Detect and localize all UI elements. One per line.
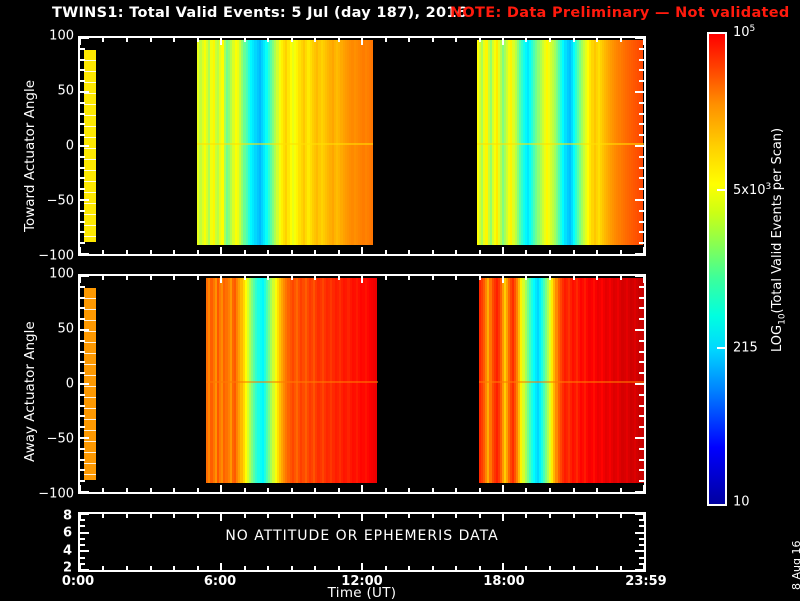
axis-tick: [338, 514, 340, 518]
axis-tick: [573, 38, 575, 42]
axis-tick: [338, 38, 340, 42]
axis-tick: [291, 514, 293, 518]
heatmap-block: [197, 40, 373, 245]
axis-tick: [385, 566, 387, 570]
axis-tick: [502, 514, 504, 521]
colorbar-tick: [717, 347, 726, 349]
axis-tick: [80, 286, 85, 288]
axis-tick: [80, 167, 85, 169]
axis-tick: [80, 113, 85, 115]
panel3-y-tick-labels: 8642: [0, 512, 74, 572]
axis-tick: [639, 318, 644, 320]
axis-tick: [80, 80, 85, 82]
heatmap-block: [206, 278, 378, 483]
axis-tick: [639, 80, 644, 82]
axis-tick: [639, 459, 644, 461]
axis-tick: [432, 566, 434, 570]
axis-tick: [639, 519, 644, 521]
axis-tick: [361, 38, 363, 45]
y-tick-label: 4: [63, 543, 72, 558]
axis-tick: [80, 448, 85, 450]
axis-tick: [173, 250, 175, 254]
axis-tick: [635, 532, 644, 534]
axis-tick: [338, 250, 340, 254]
heatmap-block: [479, 278, 644, 483]
axis-tick: [197, 38, 199, 42]
axis-tick: [635, 91, 644, 93]
axis-tick: [408, 566, 410, 570]
axis-tick: [338, 488, 340, 492]
axis-tick: [79, 276, 81, 283]
x-axis-title: Time (UT): [328, 585, 397, 601]
y-tick-label: −50: [47, 432, 74, 447]
axis-tick: [80, 513, 89, 515]
axis-tick: [455, 276, 457, 280]
generation-date: 8 Aug 16: [790, 541, 800, 590]
axis-tick: [80, 372, 85, 374]
axis-tick: [80, 69, 85, 71]
y-tick-label: −100: [38, 487, 74, 502]
axis-tick: [80, 563, 85, 565]
heatmap-block: [477, 40, 644, 245]
axis-tick: [639, 405, 644, 407]
axis-tick: [432, 38, 434, 42]
axis-tick: [80, 491, 89, 493]
axis-tick: [549, 250, 551, 254]
axis-tick: [220, 276, 222, 283]
axis-tick: [432, 514, 434, 518]
axis-tick: [244, 250, 246, 254]
axis-tick: [639, 415, 644, 417]
axis-tick: [479, 566, 481, 570]
axis-tick: [150, 514, 152, 518]
axis-tick: [639, 177, 644, 179]
axis-tick: [80, 351, 85, 353]
axis-tick: [639, 123, 644, 125]
x-tick-label: 6:00: [204, 574, 236, 589]
axis-tick: [639, 231, 644, 233]
axis-tick: [80, 340, 85, 342]
axis-tick: [385, 276, 387, 280]
axis-tick: [197, 276, 199, 280]
axis-tick: [244, 566, 246, 570]
axis-tick: [80, 210, 85, 212]
axis-tick: [80, 544, 85, 546]
axis-tick: [80, 221, 85, 223]
axis-tick: [126, 250, 128, 254]
axis-tick: [80, 525, 85, 527]
axis-tick: [639, 113, 644, 115]
axis-tick: [479, 250, 481, 254]
axis-tick: [525, 250, 527, 254]
axis-tick: [639, 340, 644, 342]
axis-tick: [314, 566, 316, 570]
axis-tick: [639, 469, 644, 471]
axis-tick: [173, 514, 175, 518]
axis-tick: [314, 276, 316, 280]
axis-tick: [80, 405, 85, 407]
axis-tick: [291, 566, 293, 570]
axis-tick: [549, 38, 551, 42]
axis-tick: [385, 38, 387, 42]
axis-tick: [596, 250, 598, 254]
axis-tick: [502, 247, 504, 254]
axis-tick: [126, 488, 128, 492]
panel-toward-actuator-angle: [78, 36, 646, 256]
axis-tick: [635, 37, 644, 39]
axis-tick: [635, 569, 644, 571]
axis-tick: [635, 491, 644, 493]
axis-tick: [479, 488, 481, 492]
axis-tick: [639, 563, 644, 565]
axis-tick: [432, 488, 434, 492]
axis-tick: [80, 538, 85, 540]
axis-tick: [80, 156, 85, 158]
axis-tick: [80, 394, 85, 396]
axis-tick: [408, 38, 410, 42]
axis-tick: [361, 563, 363, 570]
axis-tick: [244, 514, 246, 518]
axis-tick: [635, 383, 644, 385]
panel-away-actuator-angle: [78, 274, 646, 494]
axis-tick: [408, 276, 410, 280]
preliminary-warning: NOTE: Data Preliminary — Not validated: [450, 5, 790, 21]
axis-tick: [220, 38, 222, 45]
axis-tick: [479, 514, 481, 518]
axis-tick: [220, 485, 222, 492]
axis-tick: [549, 488, 551, 492]
axis-tick: [502, 276, 504, 283]
axis-tick: [150, 488, 152, 492]
axis-tick: [635, 513, 644, 515]
axis-tick: [173, 276, 175, 280]
axis-tick: [80, 231, 85, 233]
axis-tick: [635, 145, 644, 147]
axis-tick: [620, 566, 622, 570]
axis-tick: [314, 488, 316, 492]
axis-tick: [361, 514, 363, 521]
x-tick-label: 0:00: [62, 574, 94, 589]
y-tick-label: −100: [38, 249, 74, 264]
y-tick-label: 50: [57, 84, 74, 99]
colorbar: [707, 32, 727, 506]
axis-tick: [80, 307, 85, 309]
axis-tick: [102, 566, 104, 570]
colorbar-title: LOG10(Total Valid Events per Scan): [770, 128, 788, 352]
axis-tick: [267, 514, 269, 518]
axis-tick: [80, 102, 85, 104]
axis-tick: [80, 253, 89, 255]
axis-tick: [549, 566, 551, 570]
axis-tick: [455, 566, 457, 570]
colorbar-tick: [717, 189, 726, 191]
axis-tick: [102, 276, 104, 280]
axis-tick: [596, 488, 598, 492]
axis-tick: [361, 276, 363, 283]
axis-tick: [639, 394, 644, 396]
axis-tick: [314, 514, 316, 518]
axis-tick: [635, 199, 644, 201]
colorbar-tick-label: 215: [733, 341, 758, 356]
axis-tick: [80, 48, 85, 50]
axis-tick: [639, 69, 644, 71]
axis-tick: [639, 210, 644, 212]
axis-tick: [150, 250, 152, 254]
axis-tick: [639, 480, 644, 482]
axis-tick: [197, 488, 199, 492]
axis-tick: [80, 275, 89, 277]
x-tick-label: 23:59: [625, 574, 666, 589]
axis-tick: [525, 566, 527, 570]
axis-tick: [267, 566, 269, 570]
axis-tick: [361, 485, 363, 492]
axis-tick: [126, 38, 128, 42]
axis-tick: [80, 415, 85, 417]
axis-tick: [80, 199, 89, 201]
axis-tick: [432, 250, 434, 254]
axis-tick: [80, 550, 89, 552]
y-tick-label: 0: [66, 139, 74, 154]
axis-tick: [620, 38, 622, 42]
y-tick-label: 50: [57, 322, 74, 337]
page-title: TWINS1: Total Valid Events: 5 Jul (day 1…: [52, 5, 467, 21]
axis-tick: [150, 38, 152, 42]
axis-tick: [455, 514, 457, 518]
axis-tick: [639, 351, 644, 353]
axis-tick: [314, 250, 316, 254]
axis-tick: [385, 250, 387, 254]
colorbar-tick-label: 5x103: [733, 182, 771, 198]
axis-tick: [291, 38, 293, 42]
x-tick-label: 18:00: [483, 574, 524, 589]
axis-tick: [80, 437, 89, 439]
no-data-message: NO ATTITUDE OR EPHEMERIS DATA: [225, 528, 498, 544]
axis-tick: [80, 361, 85, 363]
axis-tick: [639, 59, 644, 61]
axis-tick: [635, 437, 644, 439]
axis-tick: [126, 566, 128, 570]
axis-tick: [620, 250, 622, 254]
axis-tick: [639, 361, 644, 363]
axis-tick: [267, 250, 269, 254]
axis-tick: [80, 59, 85, 61]
axis-tick: [639, 48, 644, 50]
axis-tick: [220, 247, 222, 254]
axis-tick: [639, 221, 644, 223]
axis-tick: [126, 276, 128, 280]
axis-tick: [639, 242, 644, 244]
axis-tick: [80, 123, 85, 125]
axis-tick: [639, 156, 644, 158]
axis-tick: [102, 38, 104, 42]
axis-tick: [291, 276, 293, 280]
axis-tick: [173, 566, 175, 570]
axis-tick: [80, 557, 85, 559]
axis-tick: [80, 297, 85, 299]
axis-tick: [455, 488, 457, 492]
axis-tick: [173, 488, 175, 492]
axis-tick: [549, 514, 551, 518]
axis-tick: [361, 247, 363, 254]
axis-tick: [639, 102, 644, 104]
axis-tick: [596, 276, 598, 280]
axis-tick: [291, 488, 293, 492]
axis-tick: [197, 250, 199, 254]
axis-tick: [455, 38, 457, 42]
colorbar-tick-label: 105: [733, 24, 755, 40]
axis-tick: [639, 538, 644, 540]
axis-tick: [244, 38, 246, 42]
axis-tick: [220, 563, 222, 570]
axis-tick: [126, 514, 128, 518]
axis-tick: [635, 550, 644, 552]
axis-tick: [455, 250, 457, 254]
y-tick-label: 100: [49, 267, 74, 282]
y-tick-label: 6: [63, 526, 72, 541]
axis-tick: [80, 37, 89, 39]
axis-tick: [502, 563, 504, 570]
axis-tick: [620, 488, 622, 492]
axis-tick: [220, 514, 222, 521]
axis-tick: [639, 372, 644, 374]
y-tick-label: 0: [66, 377, 74, 392]
axis-tick: [479, 276, 481, 280]
y-tick-label: −50: [47, 194, 74, 209]
axis-tick: [197, 566, 199, 570]
axis-tick: [385, 488, 387, 492]
axis-tick: [639, 188, 644, 190]
axis-tick: [80, 459, 85, 461]
y-tick-label: 100: [49, 29, 74, 44]
axis-tick: [150, 276, 152, 280]
axis-tick: [525, 488, 527, 492]
axis-tick: [244, 488, 246, 492]
axis-tick: [639, 544, 644, 546]
axis-tick: [80, 480, 85, 482]
axis-tick: [549, 276, 551, 280]
panel1-y-axis-title: Toward Actuator Angle: [22, 80, 38, 232]
axis-tick: [635, 253, 644, 255]
axis-tick: [267, 38, 269, 42]
axis-tick: [80, 188, 85, 190]
axis-tick: [620, 276, 622, 280]
axis-tick: [244, 276, 246, 280]
axis-tick: [197, 514, 199, 518]
axis-tick: [102, 250, 104, 254]
axis-tick: [525, 514, 527, 518]
axis-tick: [502, 38, 504, 45]
axis-tick: [639, 167, 644, 169]
colorbar-tick-label: 10: [733, 495, 750, 510]
axis-tick: [573, 250, 575, 254]
axis-tick: [173, 38, 175, 42]
axis-tick: [80, 329, 89, 331]
axis-tick: [80, 177, 85, 179]
axis-tick: [408, 250, 410, 254]
axis-tick: [525, 38, 527, 42]
axis-tick: [573, 514, 575, 518]
axis-tick: [502, 485, 504, 492]
y-tick-label: 8: [63, 509, 72, 524]
axis-tick: [338, 566, 340, 570]
axis-tick: [639, 557, 644, 559]
axis-tick: [267, 488, 269, 492]
axis-tick: [102, 514, 104, 518]
axis-tick: [596, 38, 598, 42]
axis-tick: [573, 276, 575, 280]
axis-tick: [432, 276, 434, 280]
axis-tick: [80, 426, 85, 428]
axis-tick: [639, 297, 644, 299]
axis-tick: [80, 519, 85, 521]
axis-tick: [639, 426, 644, 428]
axis-tick: [80, 569, 89, 571]
axis-tick: [385, 514, 387, 518]
axis-tick: [408, 488, 410, 492]
axis-tick: [639, 525, 644, 527]
axis-tick: [80, 91, 89, 93]
axis-tick: [573, 566, 575, 570]
axis-tick: [639, 134, 644, 136]
axis-tick: [267, 276, 269, 280]
panel2-y-axis-title: Away Actuator Angle: [22, 321, 38, 462]
axis-tick: [80, 469, 85, 471]
axis-tick: [80, 318, 85, 320]
axis-tick: [635, 275, 644, 277]
plot-canvas: TWINS1: Total Valid Events: 5 Jul (day 1…: [0, 0, 800, 600]
axis-tick: [525, 276, 527, 280]
axis-tick: [314, 38, 316, 42]
axis-tick: [150, 566, 152, 570]
axis-tick: [79, 38, 81, 45]
axis-tick: [291, 250, 293, 254]
axis-tick: [80, 383, 89, 385]
axis-tick: [479, 38, 481, 42]
axis-tick: [80, 134, 85, 136]
axis-tick: [620, 514, 622, 518]
axis-tick: [338, 276, 340, 280]
axis-tick: [80, 242, 85, 244]
axis-tick: [102, 488, 104, 492]
axis-tick: [596, 566, 598, 570]
axis-tick: [639, 286, 644, 288]
axis-tick: [408, 514, 410, 518]
axis-tick: [635, 329, 644, 331]
axis-tick: [573, 488, 575, 492]
axis-tick: [639, 448, 644, 450]
axis-tick: [639, 307, 644, 309]
axis-tick: [596, 514, 598, 518]
axis-tick: [643, 276, 645, 283]
axis-tick: [80, 145, 89, 147]
axis-tick: [643, 38, 645, 45]
axis-tick: [80, 532, 89, 534]
